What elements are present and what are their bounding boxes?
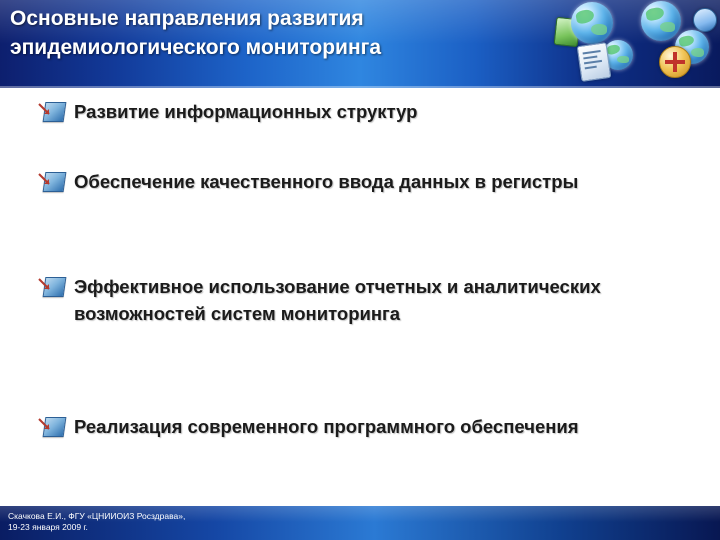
bullet-flag-icon <box>38 276 64 298</box>
arrow-icon <box>38 278 51 291</box>
bullet-item-4: Реализация современного программного обе… <box>38 413 638 440</box>
bullet-text-3: Эффективное использование отчетных и ана… <box>74 273 634 327</box>
bullet-item-1: Развитие информационных структур <box>38 98 658 125</box>
bullet-text-4: Реализация современного программного обе… <box>74 413 579 440</box>
slide-footer: Скачкова Е.И., ФГУ «ЦНИИОИЗ Росздрава», … <box>0 506 720 540</box>
bullet-flag-icon <box>38 171 64 193</box>
header-artwork <box>555 0 720 88</box>
bullet-flag-icon <box>38 416 64 438</box>
slide-header: Основные направления развития эпидемиоло… <box>0 0 720 88</box>
bullet-item-3: Эффективное использование отчетных и ана… <box>38 273 638 327</box>
globe-icon-1 <box>571 2 613 44</box>
footer-credit: Скачкова Е.И., ФГУ «ЦНИИОИЗ Росздрава», … <box>8 511 185 533</box>
arrow-icon <box>38 103 51 116</box>
arrow-icon <box>38 173 51 186</box>
slide-body: Развитие информационных структур Обеспеч… <box>0 88 720 508</box>
bullet-text-1: Развитие информационных структур <box>74 98 417 125</box>
medical-cross-icon <box>659 46 691 78</box>
document-icon <box>577 42 612 82</box>
footer-credit-line2: 19-23 января 2009 г. <box>8 522 185 533</box>
bullet-item-2: Обеспечение качественного ввода данных в… <box>38 168 638 195</box>
page-title-line1: Основные направления развития <box>10 4 570 33</box>
page-title-line2: эпидемиологического мониторинга <box>10 33 570 62</box>
globe-icon-2 <box>641 1 681 41</box>
globe-icon-small <box>693 8 717 32</box>
bullet-text-2: Обеспечение качественного ввода данных в… <box>74 168 578 195</box>
page-title: Основные направления развития эпидемиоло… <box>10 4 570 62</box>
bullet-flag-icon <box>38 101 64 123</box>
arrow-icon <box>38 418 51 431</box>
footer-credit-line1: Скачкова Е.И., ФГУ «ЦНИИОИЗ Росздрава», <box>8 511 185 522</box>
slide: Основные направления развития эпидемиоло… <box>0 0 720 540</box>
